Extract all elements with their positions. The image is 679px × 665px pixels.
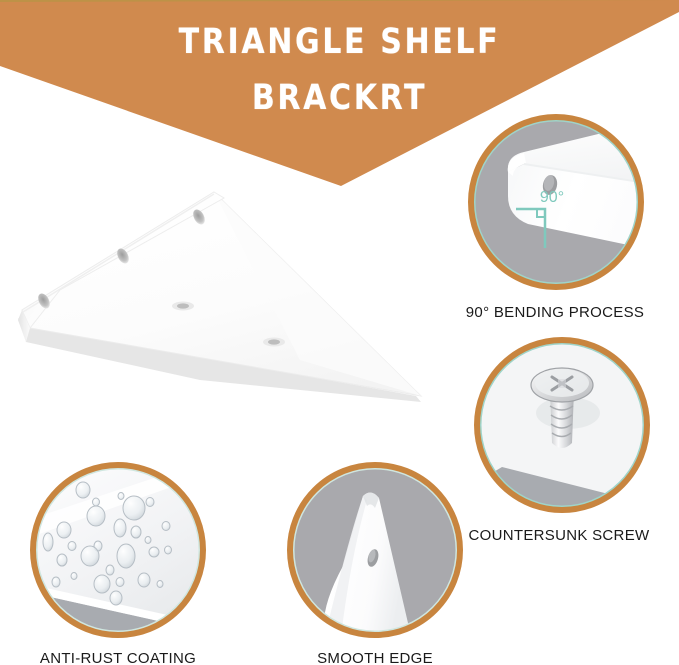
face-hole-2 bbox=[268, 339, 280, 344]
phillips-screw-icon bbox=[472, 335, 652, 515]
coating-illustration bbox=[28, 460, 208, 640]
phillips-center bbox=[558, 379, 566, 388]
hero-product-image bbox=[0, 170, 440, 440]
water-droplets-icon bbox=[28, 460, 208, 640]
screw-illustration bbox=[472, 335, 652, 515]
droplet bbox=[117, 544, 135, 568]
droplet bbox=[57, 522, 71, 538]
callout-coating-label: ANTI-RUST COATING bbox=[13, 650, 223, 665]
callout-screw-label: COUNTERSUNK SCREW bbox=[454, 527, 664, 544]
droplet bbox=[123, 496, 145, 520]
droplet bbox=[131, 526, 141, 538]
droplet bbox=[157, 581, 163, 588]
droplet bbox=[106, 565, 114, 575]
droplet bbox=[93, 498, 100, 506]
callout-smooth-label: SMOOTH EDGE bbox=[275, 650, 475, 665]
tapered-edge-icon bbox=[285, 460, 465, 640]
callout-smooth-edge: SMOOTH EDGE bbox=[285, 460, 475, 665]
infographic-page: TRIANGLE SHELF BRACKRT bbox=[0, 0, 679, 665]
droplet bbox=[81, 546, 99, 566]
face-hole-1 bbox=[177, 303, 189, 308]
droplet bbox=[145, 537, 151, 544]
smooth-edge-illustration bbox=[285, 460, 465, 640]
droplet bbox=[87, 506, 105, 526]
droplet bbox=[146, 498, 154, 507]
droplet bbox=[165, 546, 172, 554]
droplet bbox=[162, 522, 170, 531]
droplet bbox=[76, 482, 90, 498]
droplet bbox=[71, 573, 77, 580]
droplet bbox=[149, 547, 159, 557]
droplet bbox=[116, 578, 124, 587]
callout-bending-process: 90° 90° BENDING PROCESS bbox=[466, 112, 660, 321]
triangle-shelf-bracket-illustration bbox=[0, 170, 440, 440]
droplet bbox=[43, 533, 53, 551]
droplet bbox=[57, 554, 67, 566]
droplet bbox=[114, 519, 126, 537]
droplet bbox=[118, 493, 124, 500]
page-title-line-1: TRIANGLE SHELF bbox=[48, 22, 632, 62]
droplet bbox=[68, 542, 76, 551]
banner-top-edge bbox=[0, 0, 679, 6]
bent-edge-illustration: 90° bbox=[466, 112, 646, 292]
droplet bbox=[94, 575, 110, 593]
callout-anti-rust-coating: ANTI-RUST COATING bbox=[28, 460, 223, 665]
callout-bending-label: 90° BENDING PROCESS bbox=[450, 304, 660, 321]
bent-edge-icon: 90° bbox=[466, 112, 646, 292]
droplet bbox=[110, 591, 122, 605]
droplet bbox=[138, 573, 150, 587]
angle-value-label: 90° bbox=[540, 189, 564, 206]
callout-countersunk-screw: COUNTERSUNK SCREW bbox=[472, 335, 664, 544]
droplet bbox=[52, 577, 60, 587]
